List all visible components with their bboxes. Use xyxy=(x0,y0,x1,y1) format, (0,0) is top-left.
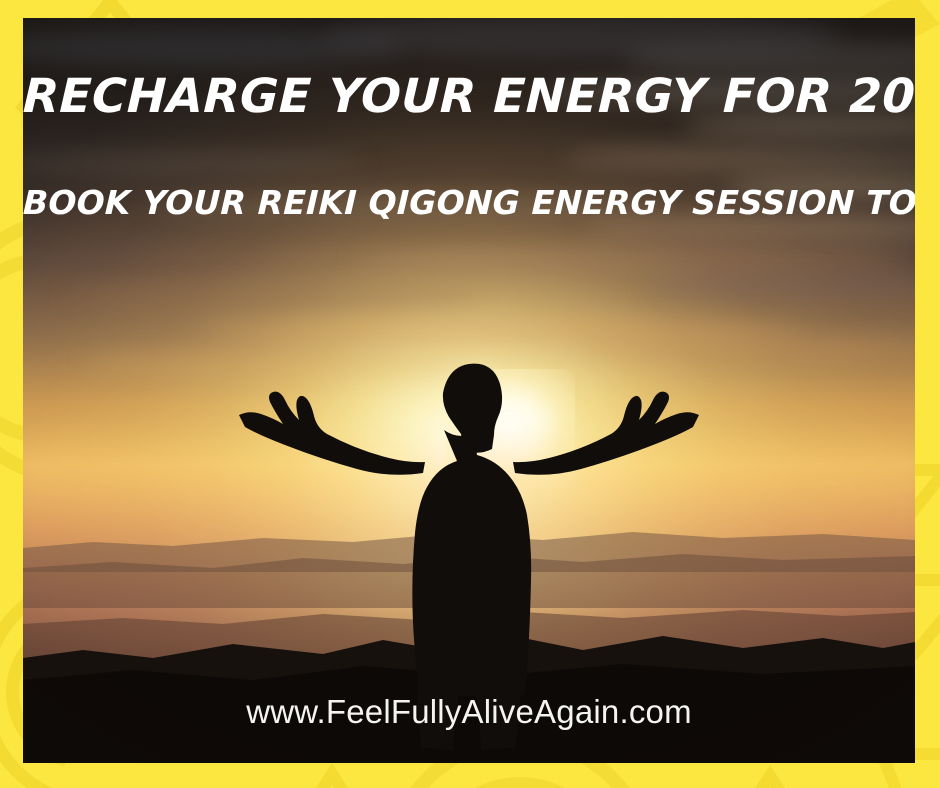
website-url[interactable]: www.FeelFullyAliveAgain.com xyxy=(23,693,915,731)
headline-text: RECHARGE YOUR ENERGY FOR 2019! xyxy=(23,72,915,121)
silhouette-figure xyxy=(23,18,915,763)
subheadline-text: BOOK YOUR REIKI QIGONG ENERGY SESSION TO… xyxy=(23,186,915,221)
flyer-canvas: RECHARGE YOUR ENERGY FOR 2019! BOOK YOUR… xyxy=(0,0,940,788)
sunset-photo: RECHARGE YOUR ENERGY FOR 2019! BOOK YOUR… xyxy=(23,18,915,763)
